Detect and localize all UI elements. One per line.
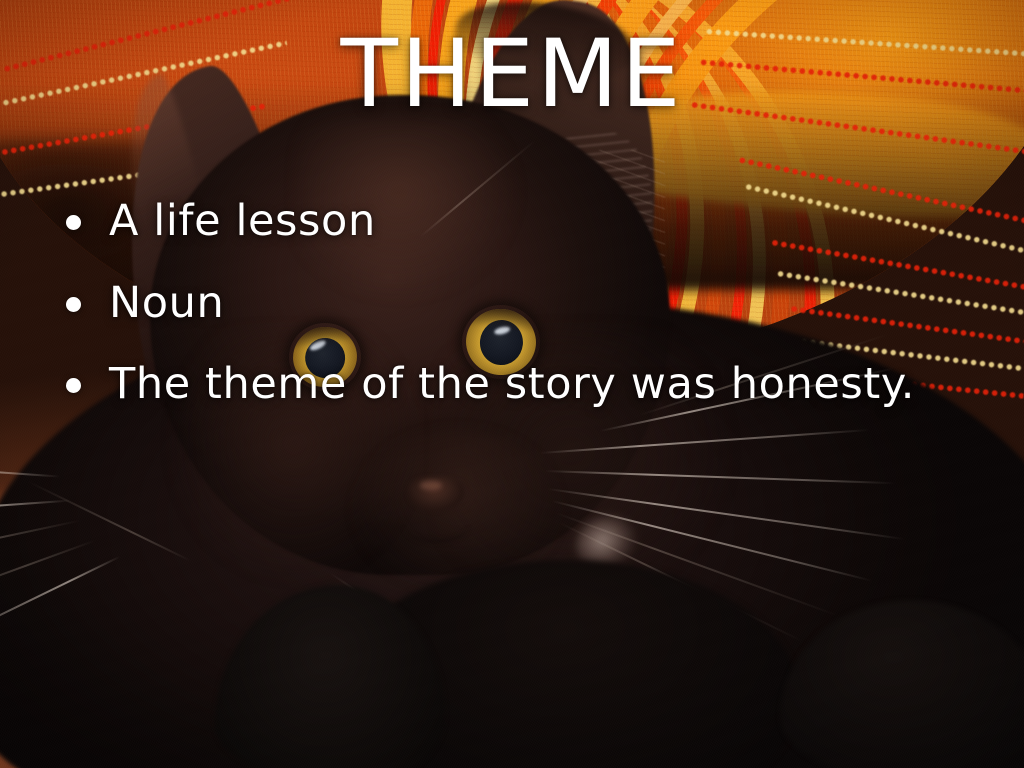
list-item: A life lesson bbox=[60, 196, 1010, 247]
bullet-dot-icon bbox=[66, 297, 81, 312]
presentation-slide: THEME A life lesson Noun The theme of th… bbox=[0, 0, 1024, 768]
bullet-dot-icon bbox=[66, 215, 81, 230]
list-item: Noun bbox=[60, 278, 1010, 329]
bullet-dot-icon bbox=[66, 378, 81, 393]
slide-title: THEME bbox=[0, 28, 1024, 122]
list-item: The theme of the story was honesty. bbox=[60, 359, 1010, 410]
slide-bullet-list: A life lesson Noun The theme of the stor… bbox=[60, 196, 1010, 441]
bullet-text: The theme of the story was honesty. bbox=[109, 359, 915, 410]
bullet-text: Noun bbox=[109, 278, 224, 329]
bullet-text: A life lesson bbox=[109, 196, 376, 247]
